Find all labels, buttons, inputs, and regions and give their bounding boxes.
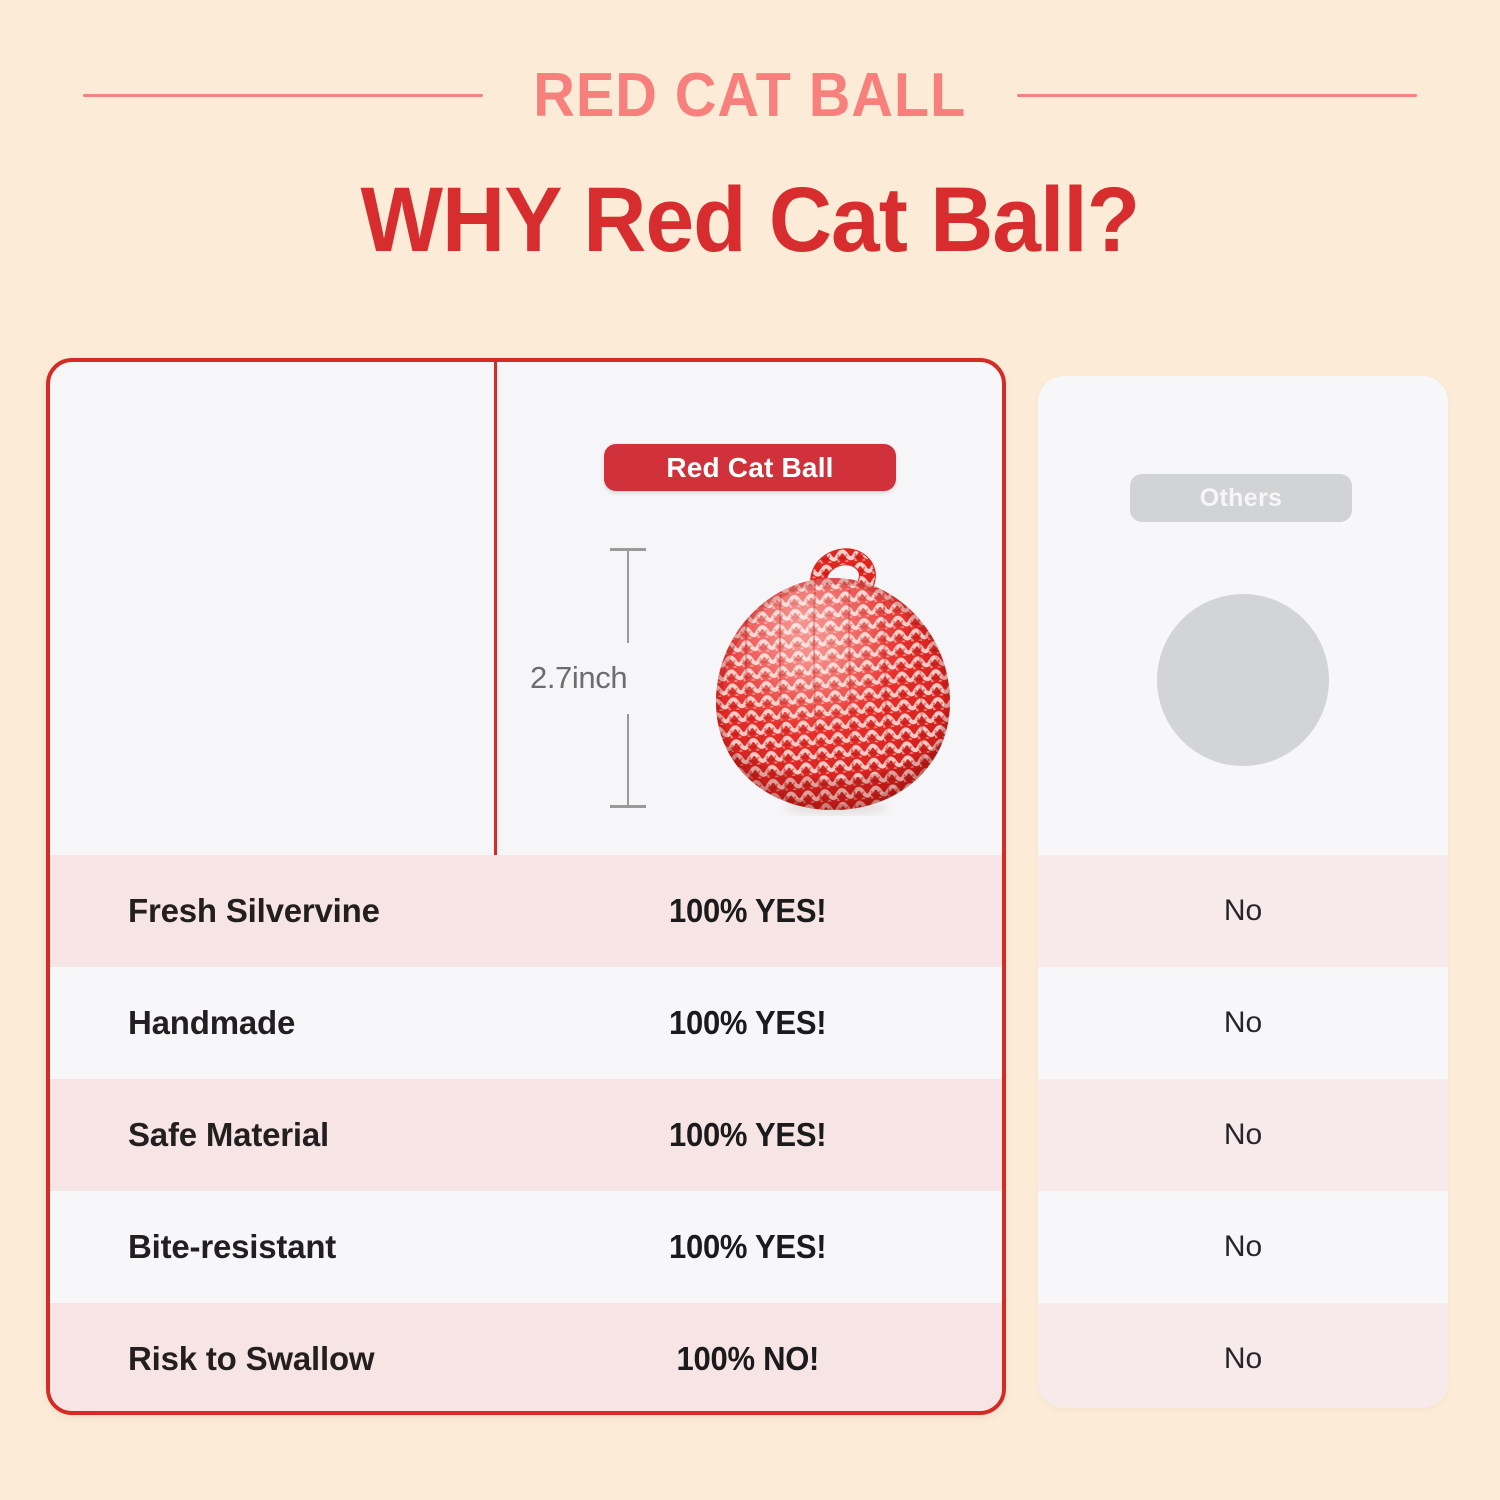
product-value-cell: 100% YES! bbox=[494, 1191, 1002, 1303]
dimension-annotation: 2.7inch bbox=[570, 548, 690, 808]
others-value-cell: No bbox=[1038, 1079, 1448, 1191]
table-row: Safe Material 100% YES! bbox=[50, 1079, 1002, 1191]
feature-label: Safe Material bbox=[50, 1079, 494, 1191]
product-value-text: 100% YES! bbox=[669, 1116, 826, 1154]
others-value-cell: No bbox=[1038, 855, 1448, 967]
others-column-header: Others bbox=[1038, 376, 1448, 855]
dimension-stem-upper bbox=[627, 549, 629, 643]
feature-label: Handmade bbox=[50, 967, 494, 1079]
page-title-text: WHY Red Cat Ball? bbox=[361, 168, 1140, 273]
product-image bbox=[700, 544, 966, 816]
product-badge: Red Cat Ball bbox=[604, 444, 896, 491]
grey-placeholder-circle-icon bbox=[1157, 594, 1329, 766]
comparison-table-panel: Red Cat Ball 2.7inch bbox=[46, 358, 1006, 1415]
table-row: Handmade 100% YES! bbox=[50, 967, 1002, 1079]
product-column-header: Red Cat Ball 2.7inch bbox=[50, 362, 1002, 855]
table-row: Bite-resistant 100% YES! bbox=[50, 1191, 1002, 1303]
feature-label: Fresh Silvervine bbox=[50, 855, 494, 967]
product-value-text: 100% YES! bbox=[669, 892, 826, 930]
product-value-cell: 100% YES! bbox=[494, 967, 1002, 1079]
others-column-panel: Others No No No No No bbox=[1038, 376, 1448, 1408]
infographic-canvas: RED CAT BALL WHY Red Cat Ball? Others No… bbox=[0, 0, 1500, 1500]
others-value-cell: No bbox=[1038, 1191, 1448, 1303]
product-value-cell: 100% YES! bbox=[494, 855, 1002, 967]
table-row: Risk to Swallow 100% NO! bbox=[50, 1303, 1002, 1415]
others-value-list: No No No No No bbox=[1038, 855, 1448, 1408]
product-value-text: 100% YES! bbox=[669, 1004, 826, 1042]
product-value-cell: 100% NO! bbox=[494, 1303, 1002, 1415]
red-white-crochet-cat-ball-icon bbox=[700, 544, 966, 816]
eyebrow-rule-right bbox=[1017, 94, 1417, 97]
comparison-row-list: Fresh Silvervine 100% YES! Handmade 100%… bbox=[50, 855, 1002, 1415]
dimension-stem-lower bbox=[627, 714, 629, 807]
product-value-text: 100% NO! bbox=[677, 1340, 820, 1378]
others-value-cell: No bbox=[1038, 1303, 1448, 1408]
page-title: WHY Red Cat Ball? bbox=[0, 168, 1500, 273]
feature-label: Bite-resistant bbox=[50, 1191, 494, 1303]
feature-label: Risk to Swallow bbox=[50, 1303, 494, 1415]
table-row: Fresh Silvervine 100% YES! bbox=[50, 855, 1002, 967]
others-badge: Others bbox=[1130, 474, 1352, 522]
others-value-cell: No bbox=[1038, 967, 1448, 1079]
dimension-cap-bottom bbox=[610, 805, 646, 808]
eyebrow-banner: RED CAT BALL bbox=[0, 52, 1500, 138]
eyebrow-rule-left bbox=[83, 94, 483, 97]
product-value-text: 100% YES! bbox=[669, 1228, 826, 1266]
eyebrow-title: RED CAT BALL bbox=[534, 60, 967, 131]
product-value-cell: 100% YES! bbox=[494, 1079, 1002, 1191]
